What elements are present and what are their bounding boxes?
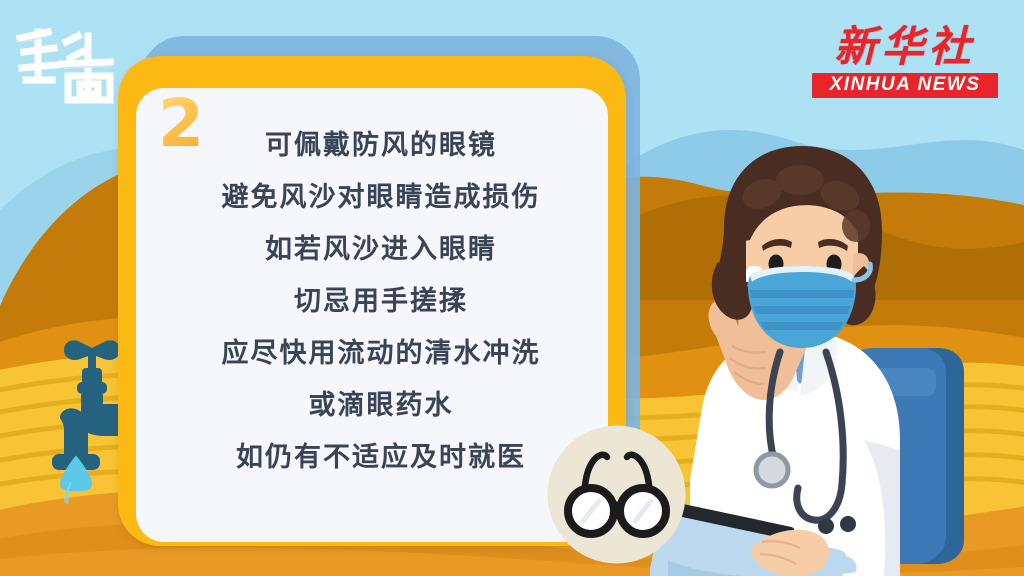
card-line: 或滴眼药水	[309, 380, 454, 432]
card-line: 应尽快用流动的清水冲洗	[222, 328, 541, 380]
kehua-wordmark-icon	[14, 18, 118, 106]
card-step-number: 2	[158, 94, 204, 154]
doctor-illustration	[650, 140, 1024, 576]
card-line: 可佩戴防风的眼镜	[265, 120, 497, 172]
card-line: 如仍有不适应及时就医	[236, 432, 526, 484]
poster-canvas: 新华社 XINHUA NEWS 2 可佩戴防风的眼镜 避免风沙对眼睛造成损伤 如…	[0, 0, 1024, 576]
xinhua-logo-bar: XINHUA NEWS	[812, 73, 998, 98]
xinhua-logo-cn: 新华社	[812, 26, 998, 70]
card-line: 如若风沙进入眼睛	[265, 224, 497, 276]
stethoscope-chestpiece	[756, 454, 788, 486]
stethoscope-earpiece	[840, 516, 856, 532]
card-line: 避免风沙对眼睛造成损伤	[222, 172, 541, 224]
card-line: 切忌用手搓揉	[294, 276, 468, 328]
xinhua-logo-en: XINHUA NEWS	[812, 75, 998, 95]
xinhua-news-logo: 新华社 XINHUA NEWS	[812, 26, 998, 100]
glasses-badge	[545, 423, 688, 566]
stethoscope-earpiece	[818, 518, 834, 534]
glasses-badge-circle	[548, 426, 686, 564]
